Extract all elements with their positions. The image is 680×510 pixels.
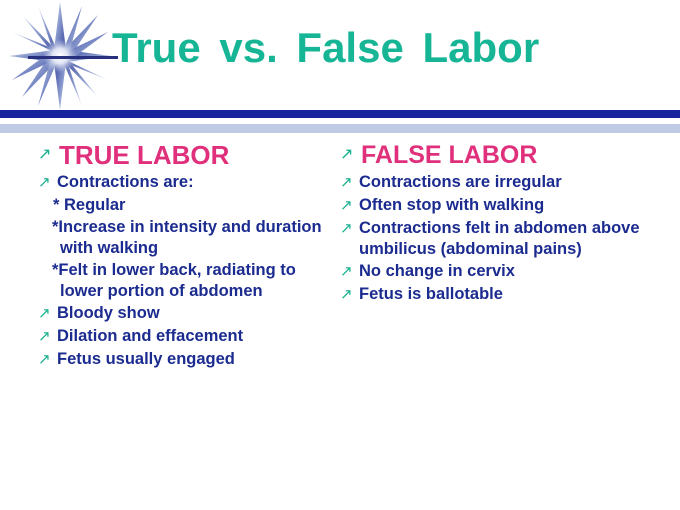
sub-item-label: *Increase in intensity and duration with… bbox=[38, 217, 338, 259]
list-item-label: Contractions are irregular bbox=[359, 172, 562, 193]
list-item-label: Fetus is ballotable bbox=[359, 284, 503, 305]
title-connector-line bbox=[28, 56, 118, 59]
list-item: ↗ Fetus is ballotable bbox=[340, 284, 670, 306]
heading-row-true-labor: ↗ TRUE LABOR bbox=[38, 140, 338, 170]
slide-header: True vs. False Labor bbox=[0, 0, 680, 110]
arrow-northeast-icon: ↗ bbox=[340, 140, 361, 170]
arrow-northeast-icon: ↗ bbox=[340, 261, 359, 283]
sub-item-label: * Regular bbox=[38, 195, 338, 216]
arrow-northeast-icon: ↗ bbox=[38, 326, 57, 348]
arrow-northeast-icon: ↗ bbox=[340, 284, 359, 306]
list-item-label: Often stop with walking bbox=[359, 195, 544, 216]
list-item-label: Contractions are: bbox=[57, 172, 194, 193]
list-item-label: Fetus usually engaged bbox=[57, 349, 235, 370]
list-item-label: Dilation and effacement bbox=[57, 326, 243, 347]
arrow-northeast-icon: ↗ bbox=[38, 172, 57, 194]
list-item: ↗ Bloody show bbox=[38, 303, 338, 325]
column-heading-false-labor: FALSE LABOR bbox=[361, 140, 537, 170]
sub-item-label: *Felt in lower back, radiating to lower … bbox=[38, 260, 338, 302]
list-item: ↗ Contractions are irregular bbox=[340, 172, 670, 194]
list-item: ↗ Contractions are: bbox=[38, 172, 338, 194]
list-item-label: No change in cervix bbox=[359, 261, 515, 282]
list-item: ↗ No change in cervix bbox=[340, 261, 670, 283]
list-item: ↗ Fetus usually engaged bbox=[38, 349, 338, 371]
arrow-northeast-icon: ↗ bbox=[340, 218, 359, 240]
list-item-label: Contractions felt in abdomen above umbil… bbox=[359, 218, 670, 260]
arrow-northeast-icon: ↗ bbox=[340, 195, 359, 217]
arrow-northeast-icon: ↗ bbox=[38, 349, 57, 371]
list-item: ↗ Often stop with walking bbox=[340, 195, 670, 217]
arrow-northeast-icon: ↗ bbox=[340, 172, 359, 194]
list-item-label: Bloody show bbox=[57, 303, 160, 324]
arrow-northeast-icon: ↗ bbox=[38, 140, 59, 170]
heading-row-false-labor: ↗ FALSE LABOR bbox=[340, 140, 670, 170]
arrow-northeast-icon: ↗ bbox=[38, 303, 57, 325]
divider-bar-light bbox=[0, 124, 680, 133]
list-item: ↗ Dilation and effacement bbox=[38, 326, 338, 348]
page-title: True vs. False Labor bbox=[112, 22, 672, 74]
list-item: ↗ Contractions felt in abdomen above umb… bbox=[340, 218, 670, 260]
column-false-labor: ↗ FALSE LABOR ↗ Contractions are irregul… bbox=[340, 140, 670, 307]
content-area: ↗ TRUE LABOR ↗ Contractions are: * Regul… bbox=[0, 140, 680, 510]
column-heading-true-labor: TRUE LABOR bbox=[59, 140, 229, 170]
divider-bar-navy bbox=[0, 110, 680, 118]
column-true-labor: ↗ TRUE LABOR ↗ Contractions are: * Regul… bbox=[38, 140, 338, 372]
